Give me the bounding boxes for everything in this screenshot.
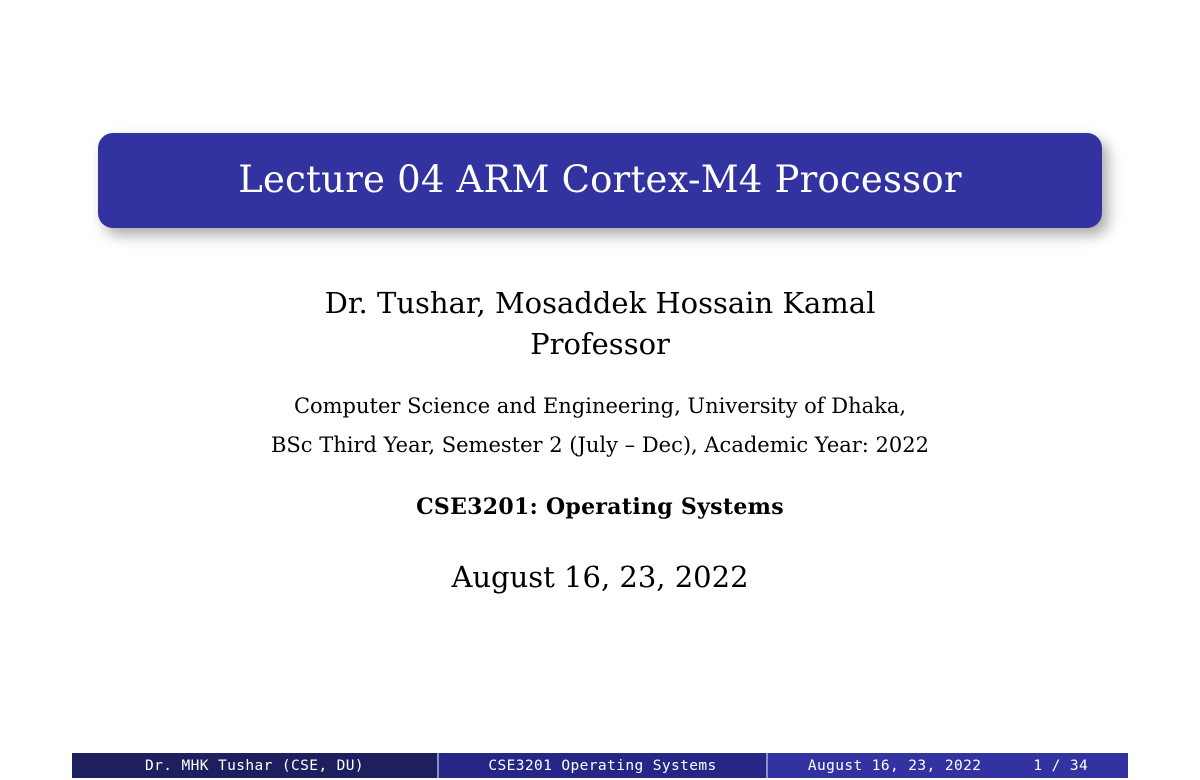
institute-block: Computer Science and Engineering, Univer… [0,396,1200,456]
institute-line-department: Computer Science and Engineering, Univer… [0,396,1200,417]
footer-title-segment[interactable]: CSE3201 Operating Systems [439,753,766,778]
footer-author-segment[interactable]: Dr. MHK Tushar (CSE, DU) [72,753,437,778]
course-code-title: CSE3201: Operating Systems [0,494,1200,520]
title-block-panel: Lecture 04 ARM Cortex-M4 Processor [98,133,1102,228]
author-rank: Professor [0,324,1200,365]
footer-page-number: 1 / 34 [1033,758,1088,774]
author-name: Dr. Tushar, Mosaddek Hossain Kamal [0,283,1200,324]
date-block: August 16, 23, 2022 [0,560,1200,594]
slide-title: Lecture 04 ARM Cortex-M4 Processor [238,160,961,201]
author-block: Dr. Tushar, Mosaddek Hossain Kamal Profe… [0,283,1200,365]
slide-date: August 16, 23, 2022 [0,560,1200,594]
footer-date-inner: August 16, 23, 2022 1 / 34 [808,758,1088,774]
footer-author-label: Dr. MHK Tushar (CSE, DU) [145,758,364,774]
institute-line-program: BSc Third Year, Semester 2 (July – Dec),… [0,435,1200,456]
footer-title-label: CSE3201 Operating Systems [488,758,716,774]
footer-bar: Dr. MHK Tushar (CSE, DU) CSE3201 Operati… [72,753,1128,778]
course-block: CSE3201: Operating Systems [0,494,1200,520]
title-block: Lecture 04 ARM Cortex-M4 Processor [98,133,1102,228]
footer-date-label: August 16, 23, 2022 [808,758,981,774]
footer-date-segment[interactable]: August 16, 23, 2022 1 / 34 [768,753,1128,778]
slide-canvas: Lecture 04 ARM Cortex-M4 Processor Dr. T… [0,0,1200,780]
